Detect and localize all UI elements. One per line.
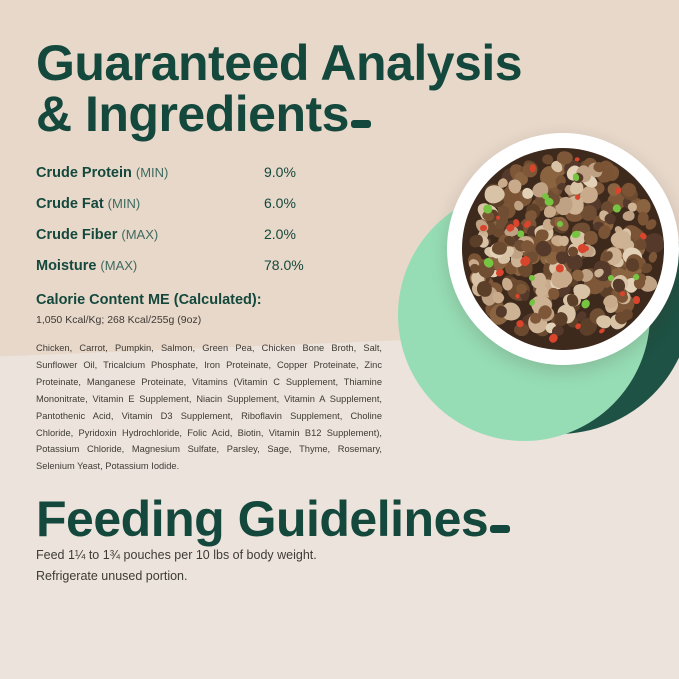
title-line-2: & Ingredients (36, 86, 349, 142)
feeding-title-period-mark (490, 525, 510, 533)
analysis-row-value: 6.0% (264, 195, 326, 211)
feeding-line-2: Refrigerate unused portion. (36, 566, 456, 587)
bowl-food-contents (462, 148, 664, 350)
shredded-meat-piece (628, 202, 638, 212)
feeding-guidelines-text: Feed 1¼ to 1¾ pouches per 10 lbs of body… (36, 545, 456, 586)
title-period-mark (351, 120, 371, 128)
shredded-meat-piece (622, 210, 634, 221)
analysis-row-qualifier: (MIN) (136, 165, 264, 180)
carrot-piece (598, 328, 605, 335)
analysis-row-qualifier: (MAX) (100, 258, 264, 273)
calorie-content-block: Calorie Content ME (Calculated): 1,050 K… (36, 292, 376, 326)
title-line-1: Guaranteed Analysis (36, 35, 522, 91)
kibble-piece (557, 151, 573, 164)
calorie-content-value: 1,050 Kcal/Kg; 268 Kcal/255g (9oz) (36, 314, 376, 326)
carrot-piece (633, 296, 640, 304)
analysis-row-value: 2.0% (264, 226, 326, 242)
analysis-row-value: 9.0% (264, 164, 326, 180)
table-row: Moisture (MAX) 78.0% (36, 257, 326, 274)
bowl-rim (447, 133, 679, 365)
calorie-content-title: Calorie Content ME (Calculated): (36, 292, 376, 308)
feeding-title-text: Feeding Guidelines (36, 491, 488, 547)
table-row: Crude Protein (MIN) 9.0% (36, 164, 326, 181)
table-row: Crude Fiber (MAX) 2.0% (36, 226, 326, 243)
page-title-guaranteed-analysis: Guaranteed Analysis & Ingredients (36, 38, 576, 140)
analysis-row-name: Crude Fiber (36, 227, 117, 243)
carrot-piece (574, 157, 580, 162)
analysis-row-name: Crude Protein (36, 165, 132, 181)
product-bowl-image (447, 133, 679, 365)
table-row: Crude Fat (MIN) 6.0% (36, 195, 326, 212)
analysis-row-qualifier: (MAX) (121, 227, 264, 242)
analysis-row-qualifier: (MIN) (108, 196, 264, 211)
ingredients-list: Chicken, Carrot, Pumpkin, Salmon, Green … (36, 340, 382, 475)
feeding-line-1: Feed 1¼ to 1¾ pouches per 10 lbs of body… (36, 545, 456, 566)
analysis-row-value: 78.0% (264, 257, 326, 273)
analysis-row-name: Moisture (36, 258, 96, 274)
kibble-piece (492, 241, 507, 254)
page-title-feeding-guidelines: Feeding Guidelines (36, 494, 596, 545)
analysis-row-name: Crude Fat (36, 196, 104, 212)
guaranteed-analysis-table: Crude Protein (MIN) 9.0% Crude Fat (MIN)… (36, 164, 326, 288)
